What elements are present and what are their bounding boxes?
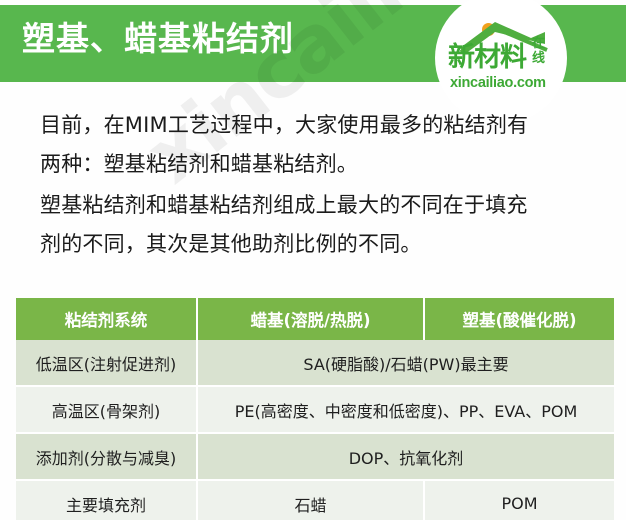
paragraph-4: 剂的不同，其次是其他助剂比例的不同。: [40, 225, 600, 264]
row-value-low-temp: SA(硬脂酸)/石蜡(PW)最主要: [197, 340, 614, 386]
row-label-main-filler: 主要填充剂: [16, 480, 197, 520]
page-title: 塑基、蜡基粘结剂: [22, 17, 294, 61]
row-value-additive: DOP、抗氧化剂: [197, 433, 614, 480]
column-header-wax: 蜡基(溶脱/热脱): [197, 298, 424, 340]
paragraph-1: 目前，在MIM工艺过程中，大家使用最多的粘结剂有: [40, 106, 600, 145]
column-header-plastic: 塑基(酸催化脱): [424, 298, 614, 340]
body-text-block: 目前，在MIM工艺过程中，大家使用最多的粘结剂有 两种：塑基粘结剂和蜡基粘结剂。…: [40, 106, 600, 264]
table-row: 添加剂(分散与减臭) DOP、抗氧化剂: [16, 433, 614, 480]
logo-brand: 新材料: [448, 44, 526, 71]
table-head: 粘结剂系统 蜡基(溶脱/热脱) 塑基(酸催化脱): [16, 298, 614, 340]
logo-url: xincailiao.com: [450, 75, 546, 91]
paragraph-3: 塑基粘结剂和蜡基粘结剂组成上最大的不同在于填充: [40, 186, 600, 225]
table-body: 低温区(注射促进剂) SA(硬脂酸)/石蜡(PW)最主要 高温区(骨架剂) PE…: [16, 340, 614, 520]
row-value-main-filler-wax: 石蜡: [197, 480, 424, 520]
table-row: 低温区(注射促进剂) SA(硬脂酸)/石蜡(PW)最主要: [16, 340, 614, 386]
column-header-system: 粘结剂系统: [16, 298, 197, 340]
logo-brand-sub: 在线: [532, 36, 550, 66]
table-header-row: 粘结剂系统 蜡基(溶脱/热脱) 塑基(酸催化脱): [16, 298, 614, 340]
table-row: 高温区(骨架剂) PE(高密度、中密度和低密度)、PP、EVA、POM: [16, 386, 614, 433]
paragraph-2: 两种：塑基粘结剂和蜡基粘结剂。: [40, 145, 600, 184]
row-label-low-temp: 低温区(注射促进剂): [16, 340, 197, 386]
binder-comparison-table: 粘结剂系统 蜡基(溶脱/热脱) 塑基(酸催化脱) 低温区(注射促进剂) SA(硬…: [16, 298, 614, 520]
page-root: xincailiao.com 塑基、蜡基粘结剂 新材料 在线 xincailia…: [0, 0, 626, 520]
row-value-main-filler-plastic: POM: [424, 480, 614, 520]
row-label-high-temp: 高温区(骨架剂): [16, 386, 197, 433]
row-label-additive: 添加剂(分散与减臭): [16, 433, 197, 480]
table-row: 主要填充剂 石蜡 POM: [16, 480, 614, 520]
row-value-high-temp: PE(高密度、中密度和低密度)、PP、EVA、POM: [197, 386, 614, 433]
